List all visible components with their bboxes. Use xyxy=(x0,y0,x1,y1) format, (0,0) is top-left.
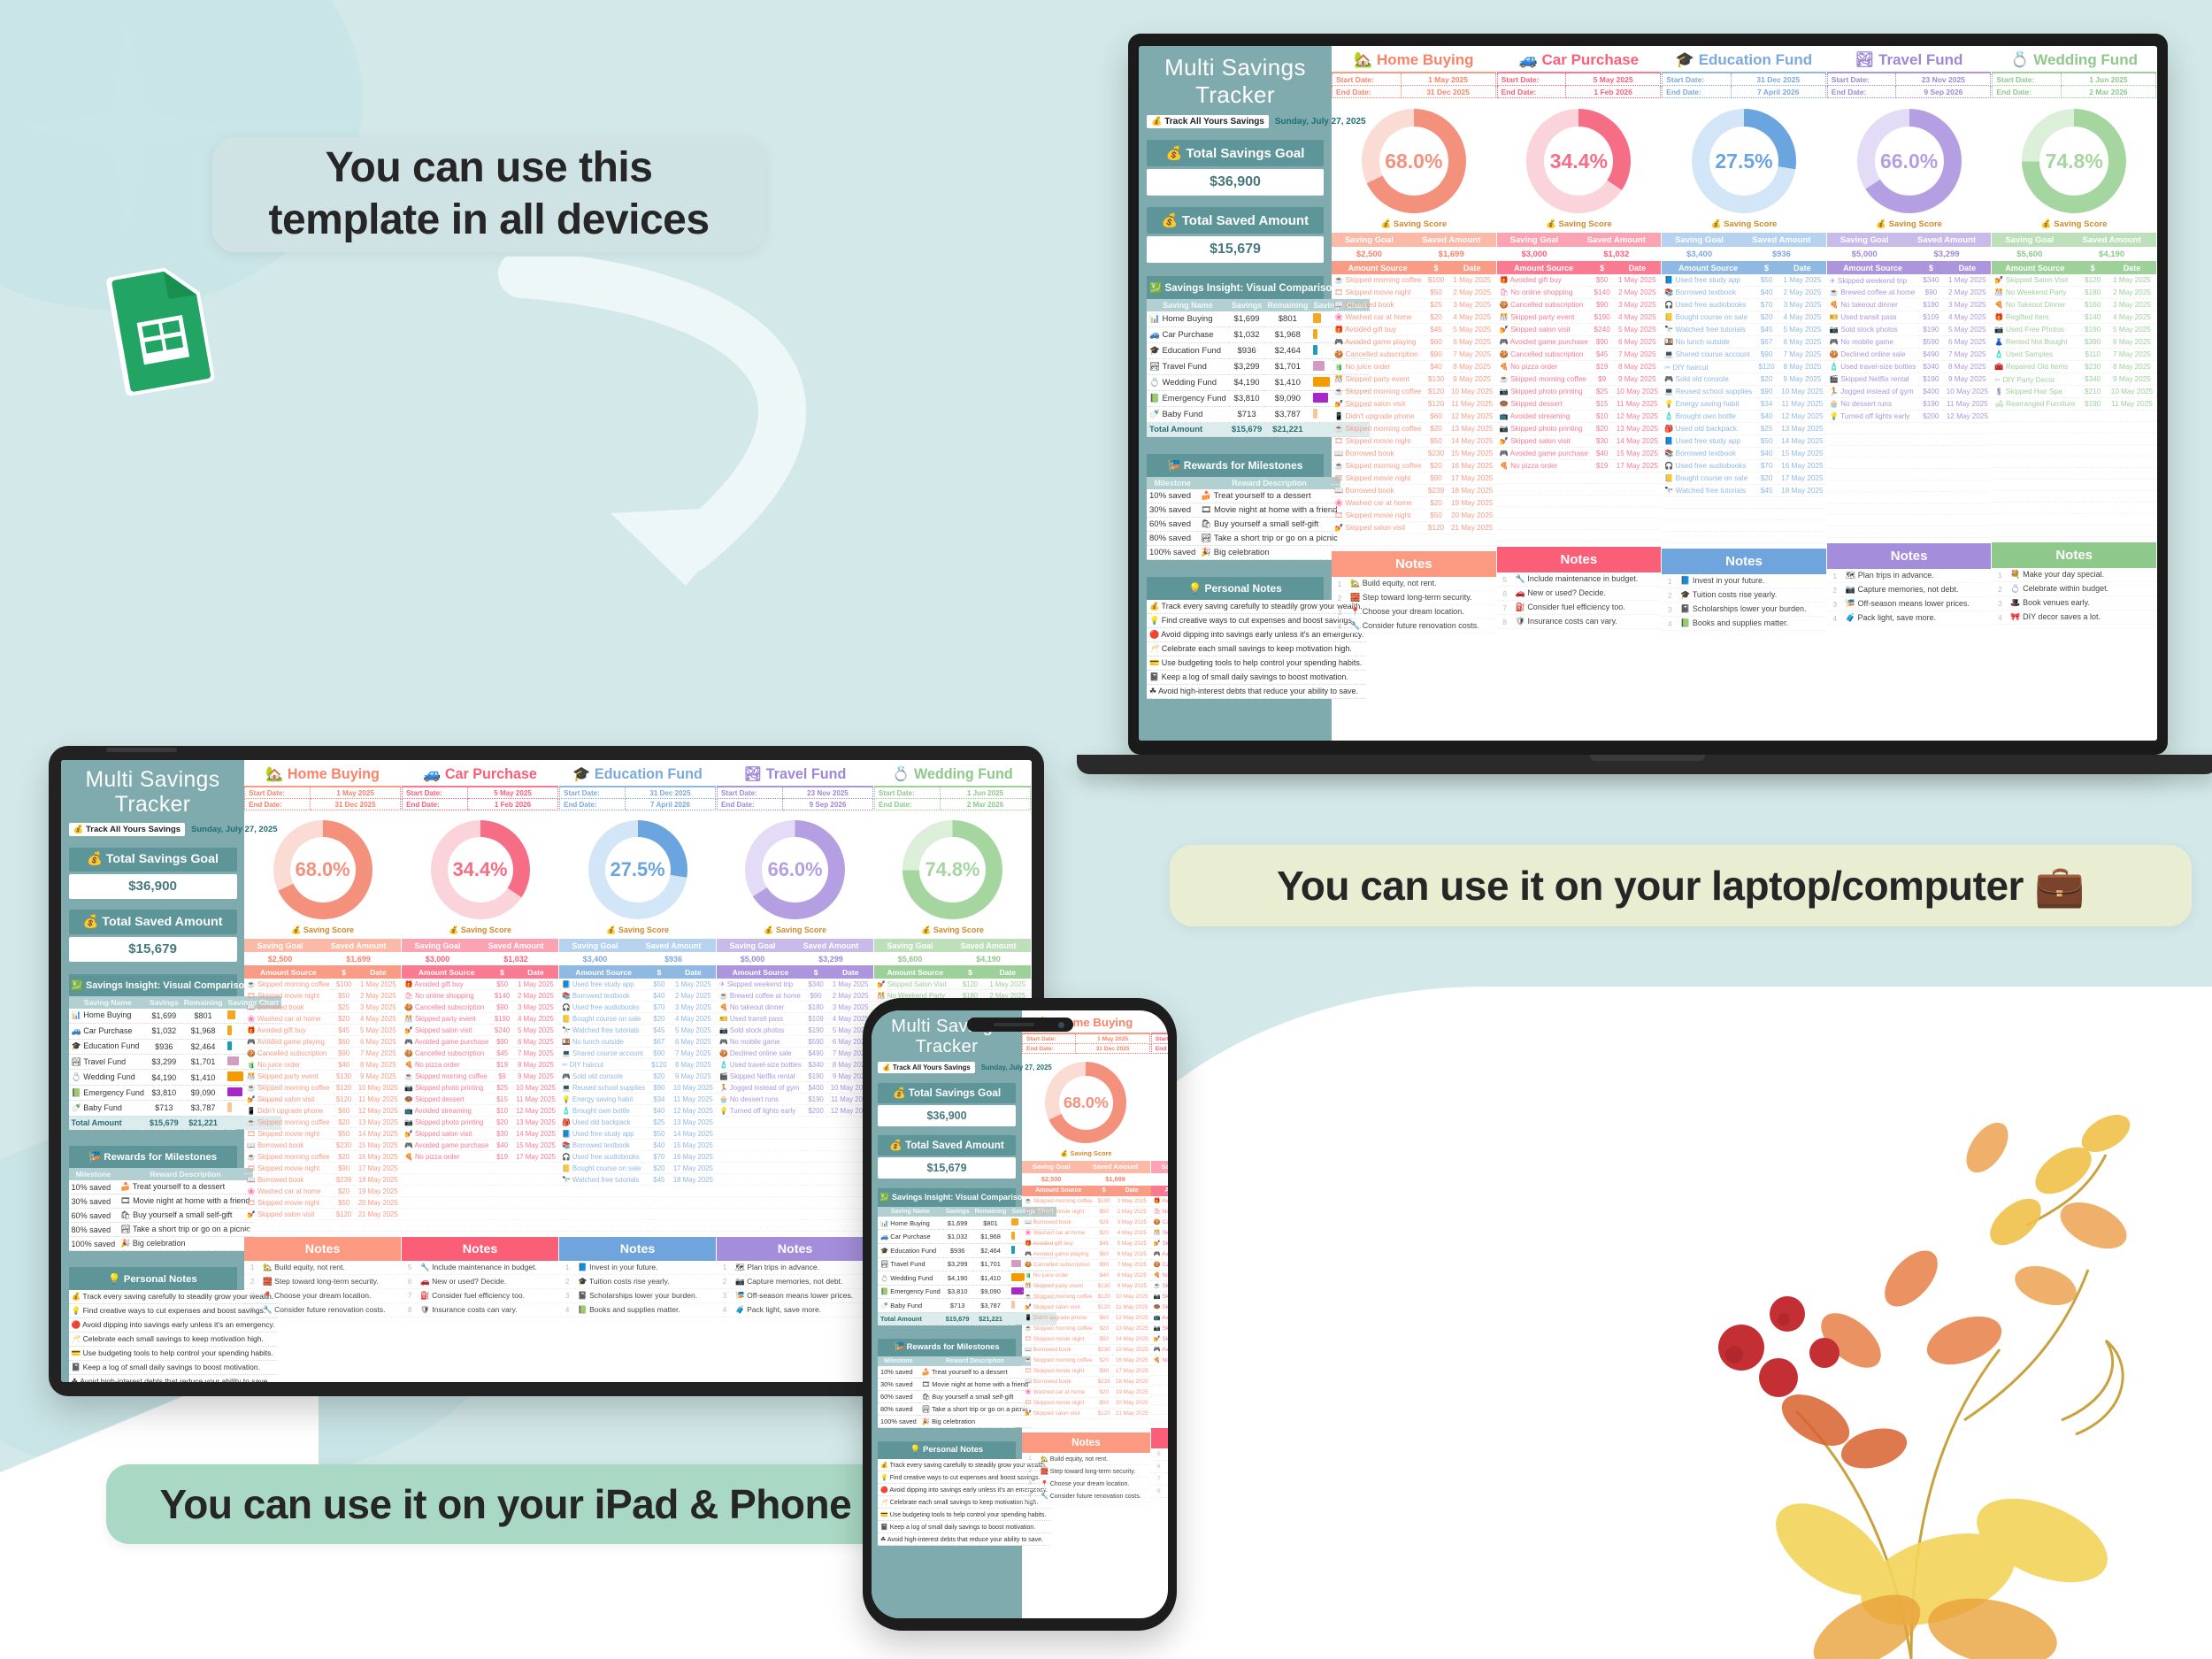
table-row[interactable]: 🎮 Avoided game purchase$4015 May 2025 xyxy=(402,1140,558,1151)
list-item[interactable]: 2🎓 Tuition costs rise yearly. xyxy=(559,1275,716,1289)
table-row[interactable]: 📖 Borrowed book$23918 May 2025 xyxy=(1022,1376,1151,1386)
table-row-empty[interactable] xyxy=(1151,1414,1168,1424)
table-row[interactable]: ☕ Skipped morning coffee$2016 May 2025 xyxy=(1022,1355,1151,1365)
table-row[interactable]: 📷 Sold stock photos$1905 May 2025 xyxy=(717,1025,873,1036)
table-row[interactable]: 📷 Skipped photo printing$2013 May 2025 xyxy=(402,1117,558,1128)
table-row[interactable]: 🍪 Cancelled subscription$457 May 2025 xyxy=(402,1048,558,1059)
table-row[interactable]: 🍪 Cancelled subscription$903 May 2025 xyxy=(1497,299,1662,311)
table-row[interactable]: ✈ Skipped weekend trip$3401 May 2025 xyxy=(717,979,873,990)
start-date-row[interactable]: Start Date:5 May 2025 xyxy=(1151,1033,1168,1044)
list-item[interactable]: 5🔧 Include maintenance in budget. xyxy=(1151,1448,1168,1461)
table-row[interactable]: 🎞 Skipped movie night$5020 May 2025 xyxy=(1022,1397,1151,1408)
table-row[interactable]: 📺 Avoided streaming$1012 May 2025 xyxy=(1151,1312,1168,1323)
table-row[interactable]: 🎮 Sold old console$209 May 2025 xyxy=(559,1071,716,1082)
table-row[interactable]: 📖 Borrowed book$253 May 2025 xyxy=(244,1002,401,1013)
table-row[interactable]: 🎮 No mobile game$5906 May 2025 xyxy=(717,1036,873,1048)
spreadsheet-phone[interactable]: Multi Savings Tracker💰 Track All Yours S… xyxy=(872,1010,1168,1618)
table-row[interactable]: 🍪 Cancelled subscription$457 May 2025 xyxy=(1151,1259,1168,1270)
table-row[interactable]: ☕ Brewed coffee at home$902 May 2025 xyxy=(717,990,873,1002)
table-row[interactable]: 📷 Skipped photo printing$2510 May 2025 xyxy=(1497,386,1662,398)
list-item[interactable]: 4🎀 DIY decor saves a lot. xyxy=(1992,611,2156,625)
fund-goal-values[interactable]: $5,600$4,190 xyxy=(874,952,1031,965)
table-row[interactable]: 100% saved🎉 Big celebration xyxy=(69,1237,253,1251)
end-date-row[interactable]: End Date:31 Dec 2025 xyxy=(1333,86,1496,98)
table-row[interactable]: 🏃 Jogged instead of gym$40010 May 2025 xyxy=(1827,386,1992,398)
table-row[interactable]: 🌸 Washed car at home$204 May 2025 xyxy=(1332,311,1496,324)
table-row[interactable]: 🎮 Avoided game playing$606 May 2025 xyxy=(244,1036,401,1048)
table-row[interactable]: 100% saved🎉 Big celebration xyxy=(1147,546,1340,560)
list-item[interactable]: 7⛽ Consider fuel efficiency too. xyxy=(402,1289,558,1303)
table-row[interactable]: 🎊 Skipped party event$1904 May 2025 xyxy=(402,1013,558,1025)
table-row[interactable]: 🍩 Skipped dessert$1511 May 2025 xyxy=(1497,398,1662,411)
table-row[interactable]: 💅 Skipped salon visit$3014 May 2025 xyxy=(402,1128,558,1140)
table-row[interactable]: 🛋 Rearranged Furniture$19011 May 2025 xyxy=(1992,398,2156,411)
list-item[interactable]: 3🎏 Off-season means lower prices. xyxy=(717,1289,873,1303)
table-row[interactable]: 🧴 Used Samples$1107 May 2025 xyxy=(1992,349,2156,361)
table-row[interactable]: 💡 Energy saving habit$3411 May 2025 xyxy=(559,1094,716,1105)
table-row-empty[interactable] xyxy=(1827,515,1992,526)
kpi-value[interactable]: $15,679 xyxy=(878,1157,1016,1178)
list-item[interactable]: 4🧳 Pack light, save more. xyxy=(1827,611,1992,626)
end-date-row[interactable]: End Date:1 Feb 2026 xyxy=(403,799,558,810)
table-row-empty[interactable] xyxy=(1497,518,1662,530)
list-item[interactable]: 1📘 Invest in your future. xyxy=(559,1261,716,1275)
table-row-empty[interactable] xyxy=(1332,534,1496,546)
table-row[interactable]: 🎊 Skipped party event$1309 May 2025 xyxy=(244,1071,401,1082)
table-row[interactable]: 📱 Didn't upgrade phone$6012 May 2025 xyxy=(1332,411,1496,423)
table-row[interactable]: 💈 Skipped Hair Spa$21010 May 2025 xyxy=(1992,386,2156,398)
list-item[interactable]: 6🚗 New or used? Decide. xyxy=(1151,1460,1168,1472)
table-row[interactable]: 💡 Energy saving habit$3411 May 2025 xyxy=(1662,398,1826,411)
table-row[interactable]: 10% saved🍰 Treat yourself to a dessert xyxy=(878,1366,1031,1379)
table-row[interactable]: 🎒 Used old backpack$2513 May 2025 xyxy=(559,1117,716,1128)
table-row[interactable]: 🔭 Watched free tutorials$4518 May 2025 xyxy=(559,1174,716,1186)
list-item[interactable]: 2🎓 Tuition costs rise yearly. xyxy=(1662,588,1826,603)
table-row[interactable]: 🧁 No dessert runs$19011 May 2025 xyxy=(1827,398,1992,411)
table-row[interactable]: 🌸 Washed car at home$2019 May 2025 xyxy=(1022,1386,1151,1397)
list-item[interactable]: 1🏡 Build equity, not rent. xyxy=(244,1261,401,1275)
table-row[interactable]: 📒 Bought course on sale$2017 May 2025 xyxy=(1662,472,1826,485)
end-date-row[interactable]: End Date:9 Sep 2026 xyxy=(1827,86,1991,98)
table-row[interactable]: 📚 Borrowed textbook$4015 May 2025 xyxy=(559,1140,716,1151)
end-date-row[interactable]: End Date:7 April 2026 xyxy=(560,799,716,810)
table-row-empty[interactable] xyxy=(1992,491,2156,503)
table-row[interactable]: 🎧 Used free audiobooks$7016 May 2025 xyxy=(559,1151,716,1163)
table-row[interactable]: 10% saved🍰 Treat yourself to a dessert xyxy=(69,1180,253,1194)
table-row[interactable]: 📒 Bought course on sale$204 May 2025 xyxy=(559,1013,716,1025)
table-row-empty[interactable] xyxy=(717,1151,873,1163)
table-row[interactable]: 60% saved🛍 Buy yourself a small self-gif… xyxy=(1147,518,1340,532)
table-row[interactable]: 📷 Skipped photo printing$2013 May 2025 xyxy=(1151,1323,1168,1333)
table-row[interactable]: 📘 Used free study app$501 May 2025 xyxy=(559,979,716,990)
table-row[interactable]: 🧴 Brought own bottle$4012 May 2025 xyxy=(1662,411,1826,423)
table-row[interactable]: 🌸 Washed car at home$204 May 2025 xyxy=(1022,1227,1151,1238)
table-row[interactable]: 🎞 Skipped movie night$5014 May 2025 xyxy=(1332,435,1496,448)
table-row[interactable]: ✂ DIY haircut$1208 May 2025 xyxy=(1662,361,1826,373)
table-row[interactable]: 🍪 Declined online sale$4907 May 2025 xyxy=(717,1048,873,1059)
table-row[interactable]: 10% saved🍰 Treat yourself to a dessert xyxy=(1147,489,1340,503)
end-date-row[interactable]: End Date:2 Mar 2026 xyxy=(875,799,1031,810)
table-row[interactable]: ☕ Skipped morning coffee$2013 May 2025 xyxy=(1022,1323,1151,1333)
list-item[interactable]: 2📷 Capture memories, not debt. xyxy=(1827,583,1992,597)
table-row-empty[interactable] xyxy=(717,1197,873,1209)
table-row[interactable]: ☕ Skipped morning coffee$2013 May 2025 xyxy=(244,1117,401,1128)
table-row[interactable]: 30% saved🎞 Movie night at home with a fr… xyxy=(1147,503,1340,518)
end-date-row[interactable]: End Date:1 Feb 2026 xyxy=(1497,86,1661,98)
table-row[interactable]: 30% saved🎞 Movie night at home with a fr… xyxy=(69,1194,253,1209)
fund-goal-values[interactable]: $3,000$1,032 xyxy=(1497,247,1662,261)
table-row-empty[interactable] xyxy=(1827,457,1992,469)
table-row[interactable]: 💅 Skipped salon visit$2405 May 2025 xyxy=(1497,324,1662,336)
list-item[interactable]: 6🚗 New or used? Decide. xyxy=(1497,587,1662,601)
table-row[interactable]: ☕ Skipped morning coffee$2013 May 2025 xyxy=(1332,423,1496,435)
table-row[interactable]: 🎊 Skipped party event$1904 May 2025 xyxy=(1497,311,1662,324)
end-date-row[interactable]: End Date:1 Feb 2026 xyxy=(1151,1044,1168,1054)
table-row-empty[interactable] xyxy=(1497,530,1662,541)
fund-goal-values[interactable]: $2,500$1,699 xyxy=(244,952,401,965)
table-row[interactable]: 🧃 No juice order$408 May 2025 xyxy=(1332,361,1496,373)
table-row[interactable]: 🎮 Avoided game purchase$906 May 2025 xyxy=(1497,336,1662,349)
table-row[interactable]: 🎧 Used free audiobooks$703 May 2025 xyxy=(1662,299,1826,311)
table-row[interactable]: 🧁 No dessert runs$19011 May 2025 xyxy=(717,1094,873,1105)
list-item[interactable]: 4🧳 Pack light, save more. xyxy=(717,1303,873,1317)
list-item[interactable]: 4📗 Books and supplies matter. xyxy=(559,1303,716,1317)
table-row[interactable]: 🎁 Avoided gift buy$501 May 2025 xyxy=(1151,1196,1168,1207)
kpi-value[interactable]: $15,679 xyxy=(1147,236,1324,263)
table-row[interactable]: 📚 Borrowed textbook$402 May 2025 xyxy=(559,990,716,1002)
table-row[interactable]: 👗 Rented Not Bought$3906 May 2025 xyxy=(1992,336,2156,349)
table-row[interactable]: 🎞 Skipped movie night$9017 May 2025 xyxy=(1022,1365,1151,1376)
list-item[interactable]: 3📍 Choose your dream location. xyxy=(1332,605,1496,619)
table-row[interactable]: 🎞 Skipped movie night$502 May 2025 xyxy=(1332,287,1496,299)
fund-goal-values[interactable]: $3,000$1,032 xyxy=(1151,1173,1168,1186)
table-row[interactable]: 30% saved🎞 Movie night at home with a fr… xyxy=(878,1378,1031,1390)
table-row[interactable]: 💅 Skipped salon visit$3014 May 2025 xyxy=(1497,435,1662,448)
table-row[interactable]: 🛍 No online shopping$1402 May 2025 xyxy=(1497,287,1662,299)
start-date-row[interactable]: Start Date:5 May 2025 xyxy=(403,787,558,799)
table-row[interactable]: ☕ Skipped morning coffee$1001 May 2025 xyxy=(1022,1196,1151,1207)
table-row-empty[interactable] xyxy=(1827,492,1992,503)
start-date-row[interactable]: Start Date:1 May 2025 xyxy=(245,787,401,799)
start-date-row[interactable]: Start Date:31 Dec 2025 xyxy=(560,787,716,799)
table-row[interactable]: ☕ Skipped morning coffee$12010 May 2025 xyxy=(1022,1291,1151,1302)
table-row[interactable]: 📘 Used free study app$501 May 2025 xyxy=(1662,274,1826,287)
table-row-empty[interactable] xyxy=(1827,503,1992,515)
table-row[interactable]: 🍩 Skipped dessert$1511 May 2025 xyxy=(1151,1302,1168,1312)
table-row[interactable]: ☕ Skipped morning coffee$2016 May 2025 xyxy=(1332,460,1496,472)
table-row-empty[interactable] xyxy=(559,1186,716,1197)
fund-goal-values[interactable]: $3,400$936 xyxy=(1662,247,1826,261)
table-row-empty[interactable] xyxy=(1992,457,2156,468)
table-row-empty[interactable] xyxy=(717,1140,873,1151)
table-row[interactable]: 🍕 No pizza order$198 May 2025 xyxy=(1497,361,1662,373)
list-item[interactable]: 1📘 Invest in your future. xyxy=(1662,574,1826,588)
table-row[interactable]: 🎞 Skipped movie night$502 May 2025 xyxy=(1022,1206,1151,1217)
table-row[interactable]: 🎊 Skipped party event$1309 May 2025 xyxy=(1332,373,1496,386)
table-row[interactable]: 🔭 Watched free tutorials$455 May 2025 xyxy=(559,1025,716,1036)
table-row[interactable]: 🍪 Cancelled subscription$907 May 2025 xyxy=(1022,1259,1151,1270)
table-row[interactable]: 80% saved🏞 Take a short trip or go on a … xyxy=(878,1402,1031,1415)
table-row-empty[interactable] xyxy=(1497,484,1662,495)
table-row-empty[interactable] xyxy=(1992,422,2156,434)
table-row-empty[interactable] xyxy=(1992,480,2156,491)
end-date-row[interactable]: End Date:31 Dec 2025 xyxy=(245,799,401,810)
table-row[interactable]: 🧰 Repaired Old Items$2308 May 2025 xyxy=(1992,361,2156,373)
table-row[interactable]: ☕ Skipped morning coffee$12010 May 2025 xyxy=(1332,386,1496,398)
table-row-empty[interactable] xyxy=(1151,1375,1168,1385)
table-row[interactable]: 💻 Shared course account$907 May 2025 xyxy=(1662,349,1826,361)
table-row[interactable]: 🎁 Regifted Item$1404 May 2025 xyxy=(1992,311,2156,324)
table-row[interactable]: 100% saved🎉 Big celebration xyxy=(878,1415,1031,1427)
table-row[interactable]: 🍪 Cancelled subscription$907 May 2025 xyxy=(1332,349,1496,361)
table-row[interactable]: 📷 Sold stock photos$1905 May 2025 xyxy=(1827,324,1992,336)
fund-goal-values[interactable]: $5,000$3,299 xyxy=(717,952,873,965)
table-row[interactable]: 📺 Avoided streaming$1012 May 2025 xyxy=(1497,411,1662,423)
table-row[interactable]: 🍕 No takeout dinner$1803 May 2025 xyxy=(717,1002,873,1013)
table-row[interactable]: 📖 Borrowed book$23918 May 2025 xyxy=(1332,485,1496,497)
table-row[interactable]: 💅 Skipped Salon Visit$1201 May 2025 xyxy=(1992,274,2156,287)
fund-goal-values[interactable]: $3,400$936 xyxy=(559,952,716,965)
table-row-empty[interactable] xyxy=(1827,434,1992,446)
table-row-empty[interactable] xyxy=(1497,507,1662,518)
table-row[interactable]: 🔭 Watched free tutorials$455 May 2025 xyxy=(1662,324,1826,336)
table-row[interactable]: 🎁 Avoided gift buy$501 May 2025 xyxy=(402,979,558,990)
table-row-empty[interactable] xyxy=(402,1197,558,1209)
list-item[interactable]: 4🔧 Consider future renovation costs. xyxy=(1022,1489,1150,1502)
table-row[interactable]: 📖 Borrowed book$23015 May 2025 xyxy=(244,1140,401,1151)
start-date-row[interactable]: Start Date:5 May 2025 xyxy=(1497,73,1661,86)
table-row[interactable]: 🎫 Used transit pass$1094 May 2025 xyxy=(1827,311,1992,324)
table-row[interactable]: 💅 Skipped salon visit$3014 May 2025 xyxy=(1151,1333,1168,1344)
table-row[interactable]: 🍪 Cancelled subscription$903 May 2025 xyxy=(402,1002,558,1013)
table-row[interactable]: 80% saved🏞 Take a short trip or go on a … xyxy=(1147,532,1340,546)
table-row[interactable]: 🎞 Skipped movie night$502 May 2025 xyxy=(244,990,401,1002)
table-row[interactable]: 💅 Skipped salon visit$12011 May 2025 xyxy=(244,1094,401,1105)
table-row-empty[interactable] xyxy=(402,1163,558,1174)
table-row[interactable]: ☕ Skipped morning coffee$99 May 2025 xyxy=(1151,1280,1168,1291)
table-row[interactable]: 🍪 Cancelled subscription$457 May 2025 xyxy=(1497,349,1662,361)
table-row-empty[interactable] xyxy=(1662,509,1826,520)
table-row[interactable]: 🎊 Skipped party event$1904 May 2025 xyxy=(1151,1227,1168,1238)
start-date-row[interactable]: Start Date:1 Jun 2025 xyxy=(1993,73,2156,86)
table-row-empty[interactable] xyxy=(1992,411,2156,422)
table-row[interactable]: ☕ Skipped morning coffee$99 May 2025 xyxy=(402,1071,558,1082)
list-item[interactable]: 3📍 Choose your dream location. xyxy=(244,1289,401,1303)
table-row[interactable]: 📷 Used Free Photos$1905 May 2025 xyxy=(1992,324,2156,336)
table-row-empty[interactable] xyxy=(1827,446,1992,457)
table-row[interactable]: ☕ Skipped morning coffee$1001 May 2025 xyxy=(1332,274,1496,287)
table-row-empty[interactable] xyxy=(559,1197,716,1209)
table-row[interactable]: 💅 Skipped Salon Visit$1201 May 2025 xyxy=(874,979,1031,990)
list-item[interactable]: 8🛡 Insurance costs can vary. xyxy=(1151,1485,1168,1497)
list-item[interactable]: 2🧱 Step toward long-term security. xyxy=(1022,1464,1150,1477)
table-row-empty[interactable] xyxy=(559,1209,716,1220)
table-row-empty[interactable] xyxy=(1151,1365,1168,1375)
start-date-row[interactable]: Start Date:1 Jun 2025 xyxy=(875,787,1031,799)
table-row-empty[interactable] xyxy=(1992,526,2156,537)
table-row-empty[interactable] xyxy=(717,1209,873,1220)
table-row[interactable]: 80% saved🏞 Take a short trip or go on a … xyxy=(69,1223,253,1237)
kpi-value[interactable]: $15,679 xyxy=(69,937,237,962)
table-row[interactable]: 🍱 No lunch outside$676 May 2025 xyxy=(1662,336,1826,349)
table-row[interactable]: 🍪 Cancelled subscription$907 May 2025 xyxy=(244,1048,401,1059)
table-row[interactable]: 💡 Turned off lights early$20012 May 2025 xyxy=(717,1105,873,1117)
table-row[interactable]: 📒 Bought course on sale$2017 May 2025 xyxy=(559,1163,716,1174)
table-row[interactable]: 💻 Reused school supplies$9010 May 2025 xyxy=(1662,386,1826,398)
kpi-value[interactable]: $36,900 xyxy=(878,1105,1016,1125)
list-item[interactable]: 3🎏 Off-season means lower prices. xyxy=(1827,597,1992,611)
table-row[interactable]: 🎞 Skipped movie night$5014 May 2025 xyxy=(244,1128,401,1140)
fund-goal-values[interactable]: $5,600$4,190 xyxy=(1992,247,2156,261)
table-row[interactable]: 🍕 No takeout dinner$1803 May 2025 xyxy=(1827,299,1992,311)
table-row[interactable]: 🧴 Used travel-size bottles$3408 May 2025 xyxy=(1827,361,1992,373)
list-item[interactable]: 8🛡 Insurance costs can vary. xyxy=(1497,615,1662,629)
start-date-row[interactable]: Start Date:1 May 2025 xyxy=(1023,1033,1150,1044)
table-row[interactable]: 🎮 Avoided game purchase$906 May 2025 xyxy=(402,1036,558,1048)
list-item[interactable]: 7⛽ Consider fuel efficiency too. xyxy=(1497,601,1662,615)
table-row[interactable]: 🎞 Skipped movie night$5020 May 2025 xyxy=(244,1197,401,1209)
table-row-empty[interactable] xyxy=(1662,520,1826,532)
table-row-empty[interactable] xyxy=(1992,434,2156,445)
table-row[interactable]: 🍕 No pizza order$1917 May 2025 xyxy=(402,1151,558,1163)
table-row-empty[interactable] xyxy=(717,1186,873,1197)
table-row[interactable]: 🍕 No pizza order$198 May 2025 xyxy=(1151,1270,1168,1280)
table-row[interactable]: 🎫 Used transit pass$1094 May 2025 xyxy=(717,1013,873,1025)
table-row[interactable]: ✂ DIY haircut$1208 May 2025 xyxy=(559,1059,716,1071)
start-date-row[interactable]: Start Date:23 Nov 2025 xyxy=(1827,73,1991,86)
laptop-viewport[interactable]: Multi Savings Tracker💰 Track All Yours S… xyxy=(1139,46,2157,741)
table-row[interactable]: 📖 Borrowed book$23015 May 2025 xyxy=(1022,1344,1151,1355)
table-row[interactable]: 🎬 Skipped Netflix rental$1909 May 2025 xyxy=(717,1071,873,1082)
table-row[interactable]: 🎧 Used free audiobooks$703 May 2025 xyxy=(559,1002,716,1013)
start-date-row[interactable]: Start Date:23 Nov 2025 xyxy=(718,787,873,799)
table-row[interactable]: 🎬 Skipped Netflix rental$1909 May 2025 xyxy=(1827,373,1992,386)
table-row-empty[interactable] xyxy=(402,1220,558,1232)
table-row[interactable]: 🍱 No lunch outside$676 May 2025 xyxy=(559,1036,716,1048)
table-row[interactable]: 🛍 No online shopping$1402 May 2025 xyxy=(1151,1206,1168,1217)
table-row[interactable]: 🎮 Sold old console$209 May 2025 xyxy=(1662,373,1826,386)
table-row[interactable]: ☕ Skipped morning coffee$2016 May 2025 xyxy=(244,1151,401,1163)
table-row-empty[interactable] xyxy=(1992,514,2156,526)
table-row[interactable]: ☕ Brewed coffee at home$902 May 2025 xyxy=(1827,287,1992,299)
table-row[interactable]: 🍕 No pizza order$198 May 2025 xyxy=(402,1059,558,1071)
table-row[interactable]: ✂ DIY Party Decor$3409 May 2025 xyxy=(1992,373,2156,386)
list-item[interactable]: 2🧱 Step toward long-term security. xyxy=(1332,591,1496,605)
table-row[interactable]: 📷 Skipped photo printing$2510 May 2025 xyxy=(1151,1291,1168,1302)
table-row-empty[interactable] xyxy=(1827,526,1992,538)
table-row-empty[interactable] xyxy=(402,1186,558,1197)
table-row[interactable]: 🎞 Skipped movie night$5020 May 2025 xyxy=(1332,510,1496,522)
table-row[interactable]: 🎁 Avoided gift buy$455 May 2025 xyxy=(1022,1238,1151,1248)
table-row[interactable]: 📖 Borrowed book$23918 May 2025 xyxy=(244,1174,401,1186)
list-item[interactable]: 6🚗 New or used? Decide. xyxy=(402,1275,558,1289)
list-item[interactable]: 8🛡 Insurance costs can vary. xyxy=(402,1303,558,1317)
table-row[interactable]: 🍪 Declined online sale$4907 May 2025 xyxy=(1827,349,1992,361)
start-date-row[interactable]: Start Date:1 May 2025 xyxy=(1333,73,1496,86)
table-row-empty[interactable] xyxy=(244,1220,401,1232)
end-date-row[interactable]: End Date:2 Mar 2026 xyxy=(1993,86,2156,98)
table-row[interactable]: 🧴 Brought own bottle$4012 May 2025 xyxy=(559,1105,716,1117)
kpi-value[interactable]: $36,900 xyxy=(69,874,237,899)
table-row[interactable]: 📚 Borrowed textbook$4015 May 2025 xyxy=(1662,448,1826,460)
list-item[interactable]: 1🏡 Build equity, not rent. xyxy=(1022,1453,1150,1465)
table-row[interactable]: 🌸 Washed car at home$204 May 2025 xyxy=(244,1013,401,1025)
end-date-row[interactable]: End Date:31 Dec 2025 xyxy=(1023,1044,1150,1054)
list-item[interactable]: 1🏡 Build equity, not rent. xyxy=(1332,577,1496,591)
table-row[interactable]: 🧴 Used travel-size bottles$3408 May 2025 xyxy=(717,1059,873,1071)
list-item[interactable]: 4🔧 Consider future renovation costs. xyxy=(244,1303,401,1317)
table-row-empty[interactable] xyxy=(1022,1418,1151,1428)
table-row[interactable]: 🌸 Washed car at home$2019 May 2025 xyxy=(1332,497,1496,510)
table-row[interactable]: 💡 Turned off lights early$20012 May 2025 xyxy=(1827,411,1992,423)
table-row[interactable]: 💅 Skipped salon visit$2405 May 2025 xyxy=(1151,1238,1168,1248)
table-row[interactable]: 🎞 Skipped movie night$9017 May 2025 xyxy=(1332,472,1496,485)
list-item[interactable]: 4🔧 Consider future renovation costs. xyxy=(1332,619,1496,634)
table-row-empty[interactable] xyxy=(1151,1404,1168,1414)
table-row[interactable]: 📘 Used free study app$5014 May 2025 xyxy=(1662,435,1826,448)
list-item[interactable]: 3📓 Scholarships lower your burden. xyxy=(559,1289,716,1303)
table-row-empty[interactable] xyxy=(402,1174,558,1186)
table-row[interactable]: 💅 Skipped salon visit$12011 May 2025 xyxy=(1332,398,1496,411)
table-row[interactable]: 🏃 Jogged instead of gym$40010 May 2025 xyxy=(717,1082,873,1094)
phone-viewport[interactable]: Multi Savings Tracker💰 Track All Yours S… xyxy=(872,1010,1168,1618)
table-row-empty[interactable] xyxy=(1151,1385,1168,1394)
end-date-row[interactable]: End Date:9 Sep 2026 xyxy=(718,799,873,810)
list-item[interactable]: 4📗 Books and supplies matter. xyxy=(1662,617,1826,631)
table-row[interactable]: 🍕 No pizza order$1917 May 2025 xyxy=(1151,1355,1168,1365)
table-row-empty[interactable] xyxy=(717,1128,873,1140)
table-row[interactable]: 60% saved🛍 Buy yourself a small self-gif… xyxy=(878,1390,1031,1402)
list-item[interactable]: 5🔧 Include maintenance in budget. xyxy=(1497,572,1662,587)
fund-goal-values[interactable]: $5,000$3,299 xyxy=(1827,247,1992,261)
table-row[interactable]: 🍕 No pizza order$1917 May 2025 xyxy=(1497,460,1662,472)
fund-goal-values[interactable]: $2,500$1,699 xyxy=(1332,247,1496,261)
table-row[interactable]: 🍩 Skipped dessert$1511 May 2025 xyxy=(402,1094,558,1105)
table-row[interactable]: 💅 Skipped salon visit$12021 May 2025 xyxy=(1332,522,1496,534)
table-row[interactable]: 🎮 Avoided game playing$606 May 2025 xyxy=(1022,1248,1151,1259)
table-row[interactable]: 📚 Borrowed textbook$402 May 2025 xyxy=(1662,287,1826,299)
table-row[interactable]: 🎧 Used free audiobooks$7016 May 2025 xyxy=(1662,460,1826,472)
table-row[interactable]: 🍪 Cancelled subscription$903 May 2025 xyxy=(1151,1217,1168,1227)
list-item[interactable]: 5🔧 Include maintenance in budget. xyxy=(402,1261,558,1275)
table-row[interactable]: ☕ Skipped morning coffee$99 May 2025 xyxy=(1497,373,1662,386)
table-row[interactable]: 📒 Bought course on sale$204 May 2025 xyxy=(1662,311,1826,324)
fund-goal-values[interactable]: $2,500$1,699 xyxy=(1022,1173,1150,1186)
table-row[interactable]: 🎊 Skipped party event$1309 May 2025 xyxy=(1022,1280,1151,1291)
fund-goal-values[interactable]: $3,000$1,032 xyxy=(402,952,558,965)
table-row-empty[interactable] xyxy=(559,1220,716,1232)
table-row-empty[interactable] xyxy=(1827,469,1992,480)
table-row[interactable]: 📖 Borrowed book$23015 May 2025 xyxy=(1332,448,1496,460)
table-row-empty[interactable] xyxy=(717,1220,873,1232)
list-item[interactable]: 3📍 Choose your dream location. xyxy=(1022,1477,1150,1489)
table-row[interactable]: 📱 Didn't upgrade phone$6012 May 2025 xyxy=(1022,1312,1151,1323)
table-row[interactable]: 🎮 Avoided game purchase$4015 May 2025 xyxy=(1497,448,1662,460)
table-row[interactable]: 🎮 No mobile game$5906 May 2025 xyxy=(1827,336,1992,349)
table-row-empty[interactable] xyxy=(717,1163,873,1174)
table-row[interactable]: 🎞 Skipped movie night$5014 May 2025 xyxy=(1022,1333,1151,1344)
table-row[interactable]: 📱 Didn't upgrade phone$6012 May 2025 xyxy=(244,1105,401,1117)
table-row[interactable]: 💻 Reused school supplies$9010 May 2025 xyxy=(559,1082,716,1094)
table-row[interactable]: 🎮 Avoided game purchase$4015 May 2025 xyxy=(1151,1344,1168,1355)
list-item[interactable]: 2📷 Capture memories, not debt. xyxy=(717,1275,873,1289)
table-row-empty[interactable] xyxy=(1151,1394,1168,1404)
table-row[interactable]: 💅 Skipped salon visit$2405 May 2025 xyxy=(402,1025,558,1036)
list-item[interactable]: 1🗺 Plan trips in advance. xyxy=(717,1261,873,1275)
table-row[interactable]: 60% saved🛍 Buy yourself a small self-gif… xyxy=(69,1209,253,1223)
table-row[interactable]: 🎮 Avoided game purchase$906 May 2025 xyxy=(1151,1248,1168,1259)
list-item[interactable]: 1💐 Make your day special. xyxy=(1992,568,2156,582)
